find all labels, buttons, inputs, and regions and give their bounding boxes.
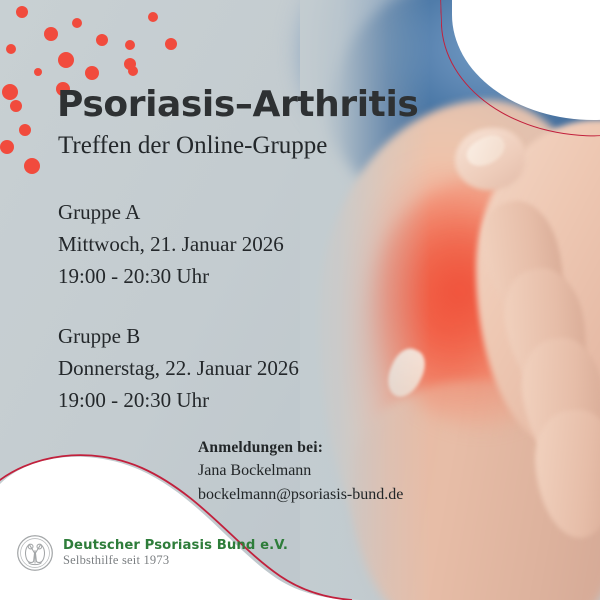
two-figures-circle-emblem [16,534,54,572]
group-name: Gruppe B [58,320,299,352]
contact-email[interactable]: bockelmann@psoriasis-bund.de [198,483,403,507]
group-date: Donnerstag, 22. Januar 2026 [58,352,299,384]
contact-heading: Anmeldungen bei: [198,436,403,459]
page-subtitle: Treffen der Online-Gruppe [58,132,327,160]
organization-name: Deutscher Psoriasis Bund e.V. [63,539,288,553]
group-block-b: Gruppe B Donnerstag, 22. Januar 2026 19:… [58,320,299,416]
group-name: Gruppe A [58,196,284,228]
group-time: 19:00 - 20:30 Uhr [58,260,284,292]
poster-content: Psoriasis–Arthritis Treffen der Online-G… [0,0,600,600]
organization-tagline: Selbsthilfe seit 1973 [63,554,288,567]
group-date: Mittwoch, 21. Januar 2026 [58,228,284,260]
page-title: Psoriasis–Arthritis [57,84,418,125]
organization-logo: Deutscher Psoriasis Bund e.V. Selbsthilf… [16,534,288,572]
logo-text: Deutscher Psoriasis Bund e.V. Selbsthilf… [63,539,288,568]
group-block-a: Gruppe A Mittwoch, 21. Januar 2026 19:00… [58,196,284,292]
poster-canvas: Psoriasis–Arthritis Treffen der Online-G… [0,0,600,600]
contact-block: Anmeldungen bei: Jana Bockelmann bockelm… [198,436,403,507]
contact-name: Jana Bockelmann [198,459,403,483]
group-time: 19:00 - 20:30 Uhr [58,384,299,416]
